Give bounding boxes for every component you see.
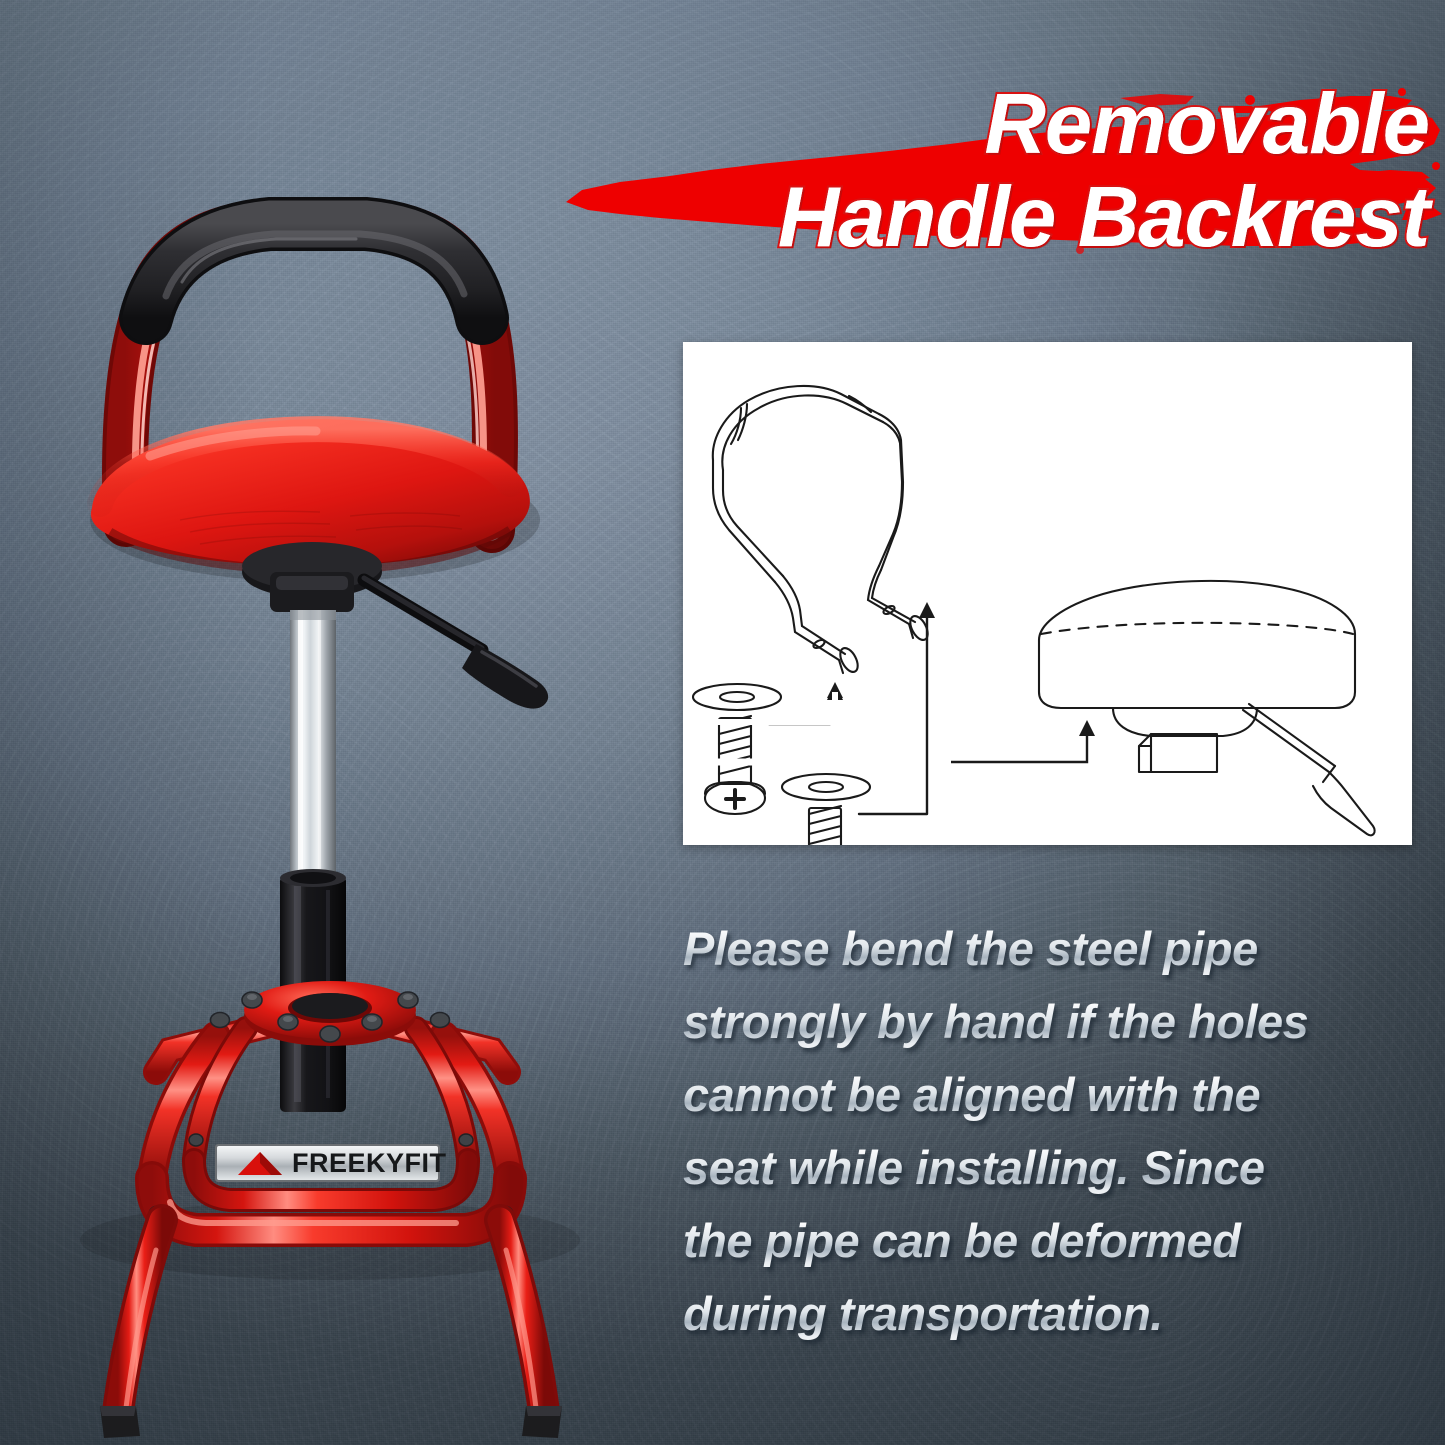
product-marketing-image: Removable Handle Backrest Removable Hand… bbox=[0, 0, 1445, 1445]
product-photo-stool: FREEKYFIT bbox=[30, 120, 650, 1440]
brand-plate: FREEKYFIT bbox=[215, 1144, 447, 1182]
diagram-arrow-seat-real bbox=[951, 720, 1095, 762]
diagram-arrow-seat bbox=[683, 684, 843, 722]
diagram-seat-bracket bbox=[1113, 708, 1257, 772]
gas-cylinder-chrome bbox=[290, 610, 336, 890]
headline-line-1-fill: Removable bbox=[560, 78, 1445, 171]
diagram-washer-upper bbox=[693, 684, 781, 710]
height-adjust-lever bbox=[364, 578, 548, 709]
diagram-seat-cushion bbox=[1039, 581, 1355, 708]
body-line-6: during transportation. bbox=[683, 1277, 1383, 1350]
diagram-arrow-seat-final bbox=[683, 726, 843, 762]
instruction-paragraph: Please bend the steel pipe strongly by h… bbox=[683, 912, 1383, 1350]
body-line-3: cannot be aligned with the bbox=[683, 1058, 1383, 1131]
assembly-diagram-panel bbox=[683, 342, 1412, 845]
diagram-screw-lower bbox=[795, 806, 855, 845]
headline-block: Removable Handle Backrest Removable Hand… bbox=[560, 78, 1445, 273]
body-line-5: the pipe can be deformed bbox=[683, 1204, 1383, 1277]
handle-foam-grip bbox=[146, 224, 482, 318]
diagram-arrow-lower bbox=[859, 602, 935, 814]
body-line-4: seat while installing. Since bbox=[683, 1131, 1383, 1204]
diagram-arrow-upper bbox=[769, 682, 843, 724]
brand-name: FREEKYFIT bbox=[292, 1148, 447, 1178]
body-line-2: strongly by hand if the holes bbox=[683, 985, 1383, 1058]
foot-caps bbox=[100, 1406, 562, 1438]
headline-line-2-fill: Handle Backrest bbox=[560, 171, 1445, 264]
diagram-handle-backrest bbox=[713, 386, 931, 675]
body-line-1: Please bend the steel pipe bbox=[683, 912, 1383, 985]
diagram-lever bbox=[1243, 704, 1375, 835]
headline-fill: Removable Handle Backrest bbox=[560, 78, 1445, 264]
diagram-washer-lower bbox=[782, 774, 870, 800]
